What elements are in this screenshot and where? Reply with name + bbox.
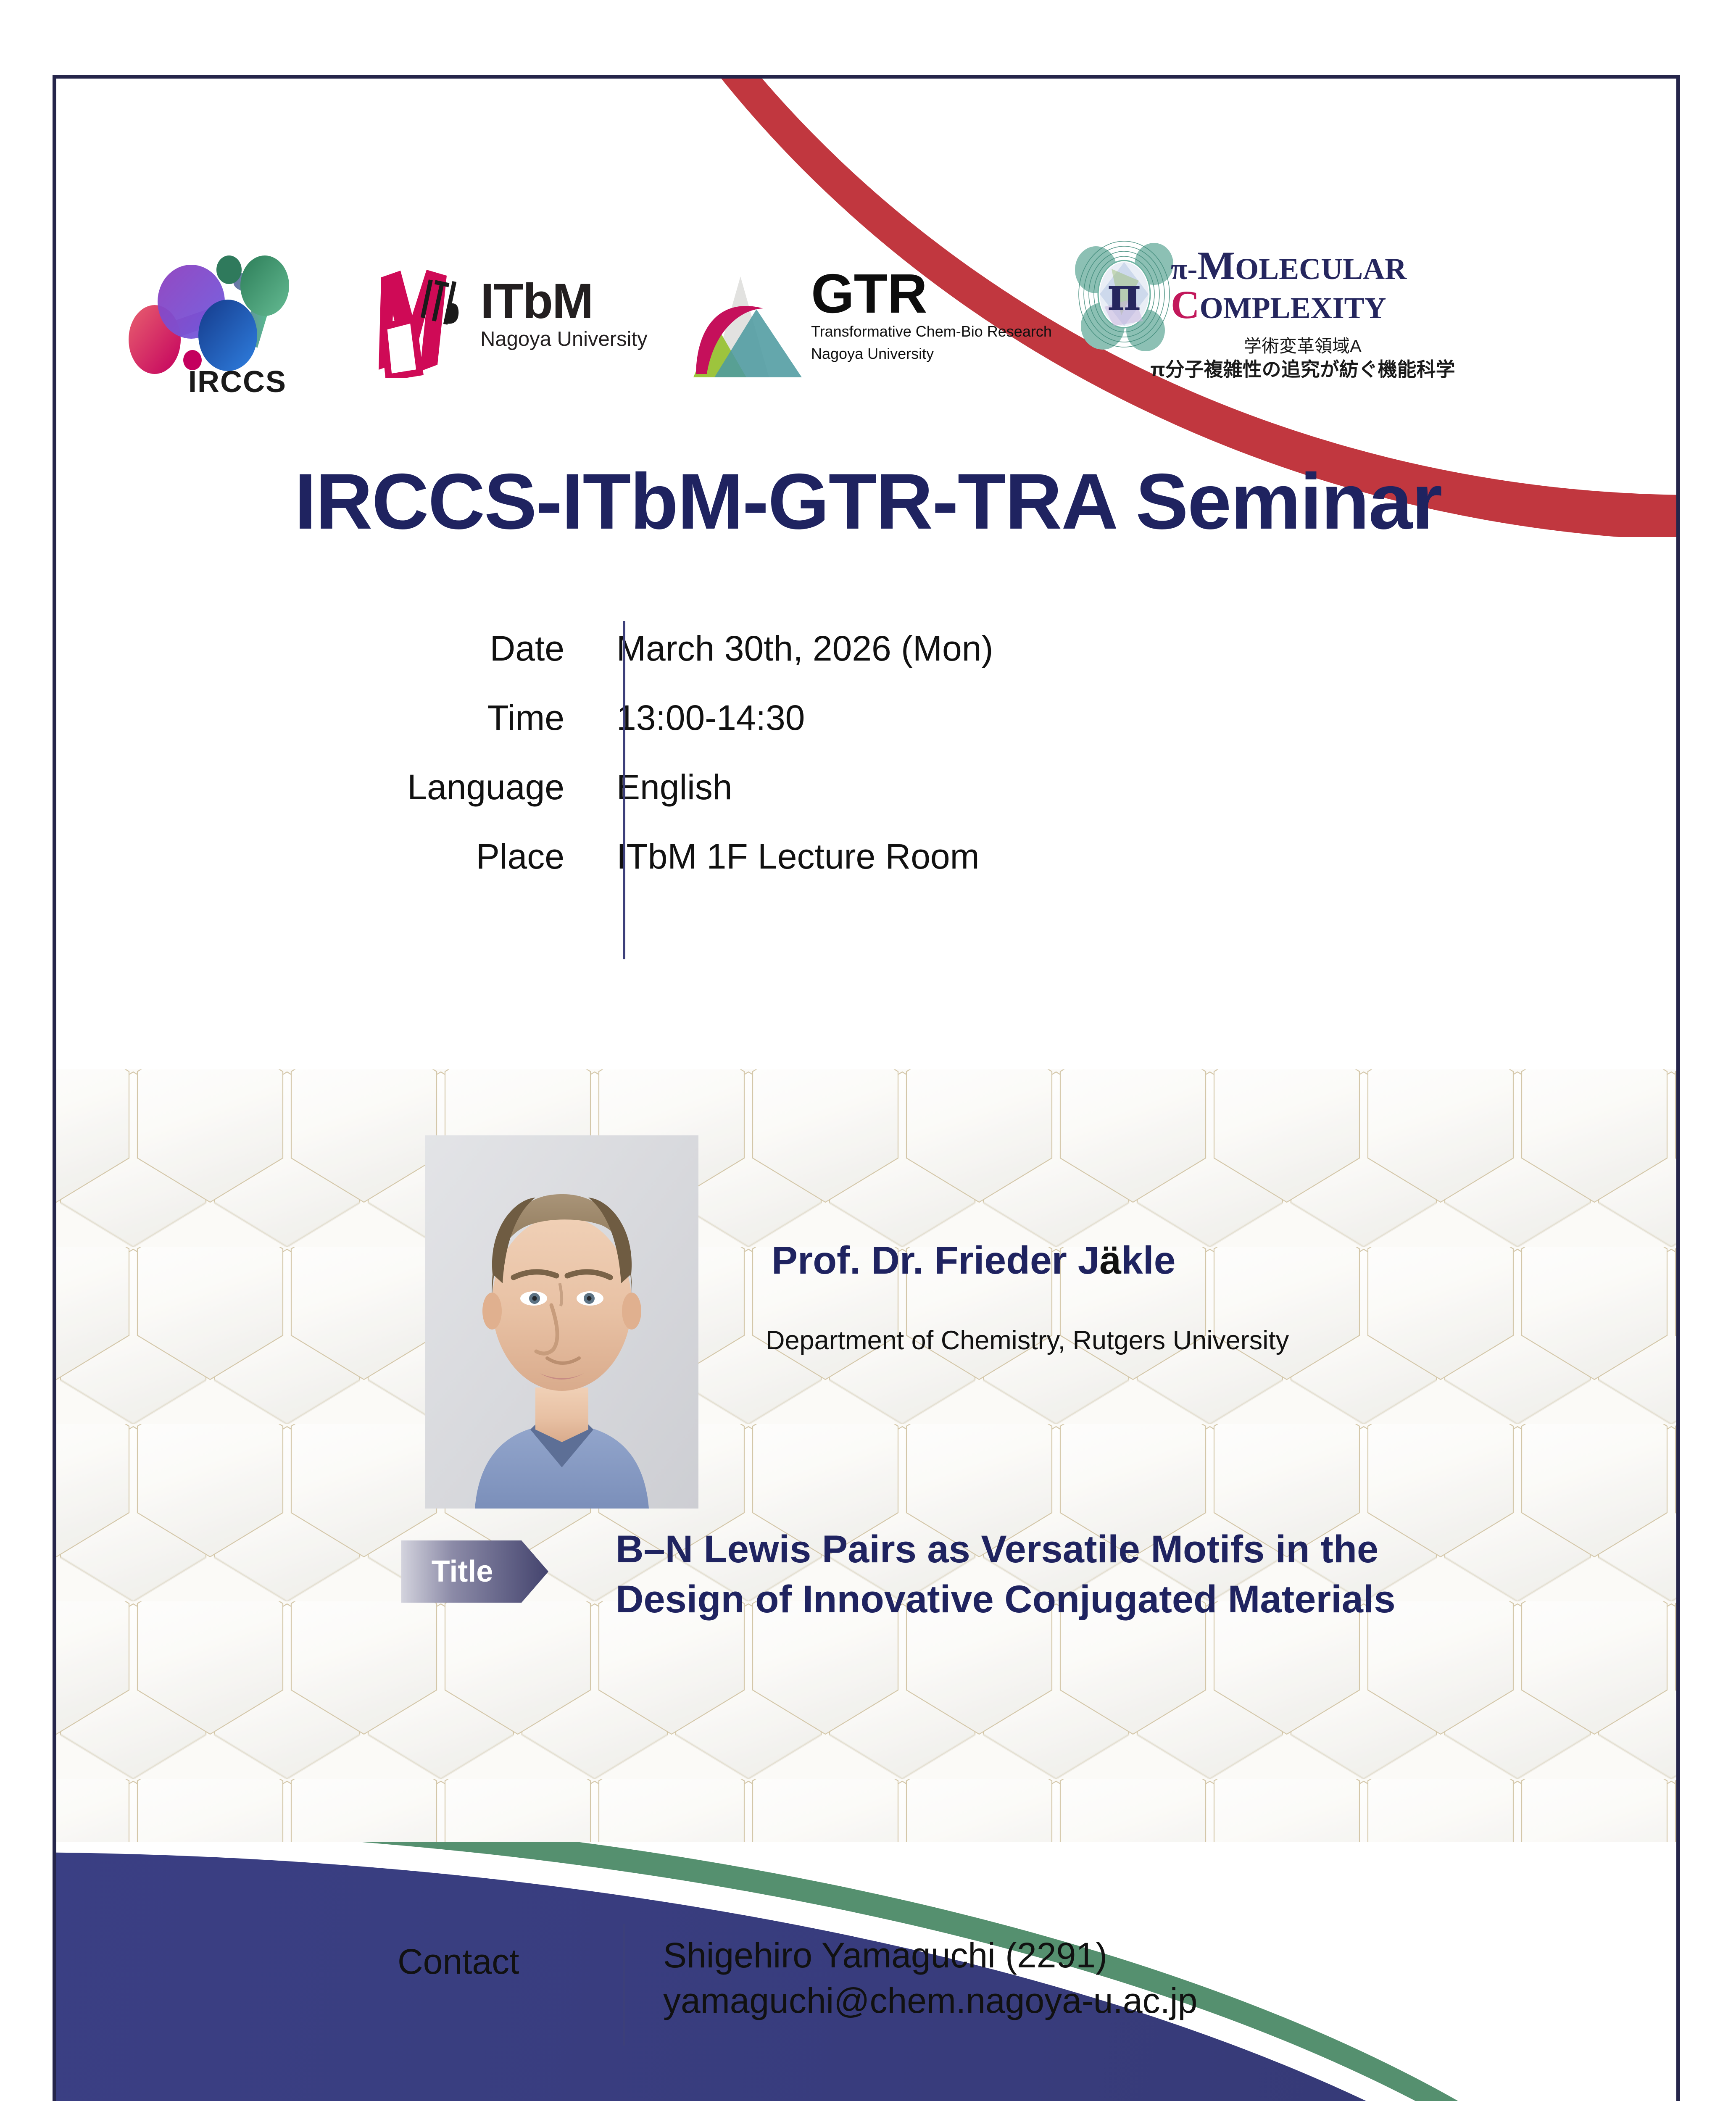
seminar-poster: IRCCS ITbM [0, 0, 1736, 2101]
logo-irccs: IRCCS [126, 231, 361, 399]
itbm-wordmark: ITbM [480, 276, 648, 326]
irccs-wordmark: IRCCS [188, 365, 287, 399]
page-title: IRCCS-ITbM-GTR-TRA Seminar [0, 456, 1736, 547]
title-badge-label: Title [401, 1540, 523, 1603]
speaker-name-part1: Prof. Dr. Frieder J [772, 1238, 1099, 1282]
pimc-complexity-initial: C [1171, 282, 1200, 327]
gtr-mountain-icon [693, 273, 811, 378]
info-label-language: Language [359, 767, 595, 808]
itbm-subtitle: Nagoya University [480, 329, 648, 350]
info-value-place: ITbM 1F Lecture Room [595, 836, 980, 877]
speaker-name-umlaut: ä [1099, 1238, 1121, 1282]
pimc-prefix: π- [1171, 252, 1197, 286]
info-label-time: Time [359, 698, 595, 738]
contact-person: Shigehiro Yamaguchi (2291) [663, 1933, 1197, 1978]
speaker-name-part2: kle [1121, 1238, 1175, 1282]
logo-pi-molecular-complexity: π π-MOLECULAR COMPLEXITY 学術変革領域A π分子複雑性の… [1055, 231, 1492, 399]
speaker-photo [425, 1135, 698, 1509]
info-divider [623, 621, 625, 959]
contact-label: Contact [398, 1941, 519, 1982]
svg-text:π: π [1107, 267, 1141, 321]
gtr-subtitle-line1: Transformative Chem-Bio Research [811, 322, 1052, 341]
info-value-date: March 30th, 2026 (Mon) [595, 628, 993, 669]
info-label-place: Place [359, 836, 595, 877]
info-label-date: Date [359, 628, 595, 669]
pimc-molecular-rest: OLECULAR [1235, 252, 1407, 286]
logo-itbm: ITbM Nagoya University [361, 261, 670, 399]
pimc-jp-line1: 学術変革領域A [1143, 335, 1462, 358]
seminar-info-table: Date March 30th, 2026 (Mon) Time 13:00-1… [359, 628, 1326, 906]
info-row-date: Date March 30th, 2026 (Mon) [359, 628, 1326, 698]
gtr-subtitle-line2: Nagoya University [811, 345, 1052, 363]
contact-email[interactable]: yamaguchi@chem.nagoya-u.ac.jp [663, 1978, 1197, 2024]
hexagon-tile-pattern [56, 1069, 1676, 1842]
speaker-portrait-illustration [425, 1135, 698, 1509]
talk-title-line2: Design of Innovative Conjugated Material… [616, 1574, 1624, 1624]
itbm-mark-icon [376, 265, 473, 378]
pimc-complexity-rest: OMPLEXITY [1200, 291, 1386, 325]
info-value-language: English [595, 767, 732, 808]
info-row-language: Language English [359, 767, 1326, 836]
gtr-wordmark: GTR [811, 268, 1052, 319]
pimc-molecular-initial: M [1197, 243, 1235, 288]
pimc-jp-line2: π分子複雑性の追究が紡ぐ機能科学 [1143, 358, 1462, 382]
info-row-place: Place ITbM 1F Lecture Room [359, 836, 1326, 906]
title-badge: Title [401, 1540, 548, 1603]
sponsor-logo-row: IRCCS ITbM [126, 223, 1597, 399]
logo-gtr: GTR Transformative Chem-Bio Research Nag… [670, 261, 1055, 399]
talk-title: B–N Lewis Pairs as Versatile Motifs in t… [616, 1524, 1624, 1624]
contact-divider [623, 1924, 625, 2046]
speaker-name: Prof. Dr. Frieder Jäkle [772, 1238, 1175, 1283]
info-value-time: 13:00-14:30 [595, 698, 805, 738]
speaker-affiliation: Department of Chemistry, Rutgers Univers… [766, 1325, 1289, 1356]
hexagon-background-band [56, 1069, 1676, 1842]
contact-details: Shigehiro Yamaguchi (2291) yamaguchi@che… [663, 1933, 1197, 2023]
talk-title-line1: B–N Lewis Pairs as Versatile Motifs in t… [616, 1524, 1624, 1574]
info-row-time: Time 13:00-14:30 [359, 698, 1326, 767]
